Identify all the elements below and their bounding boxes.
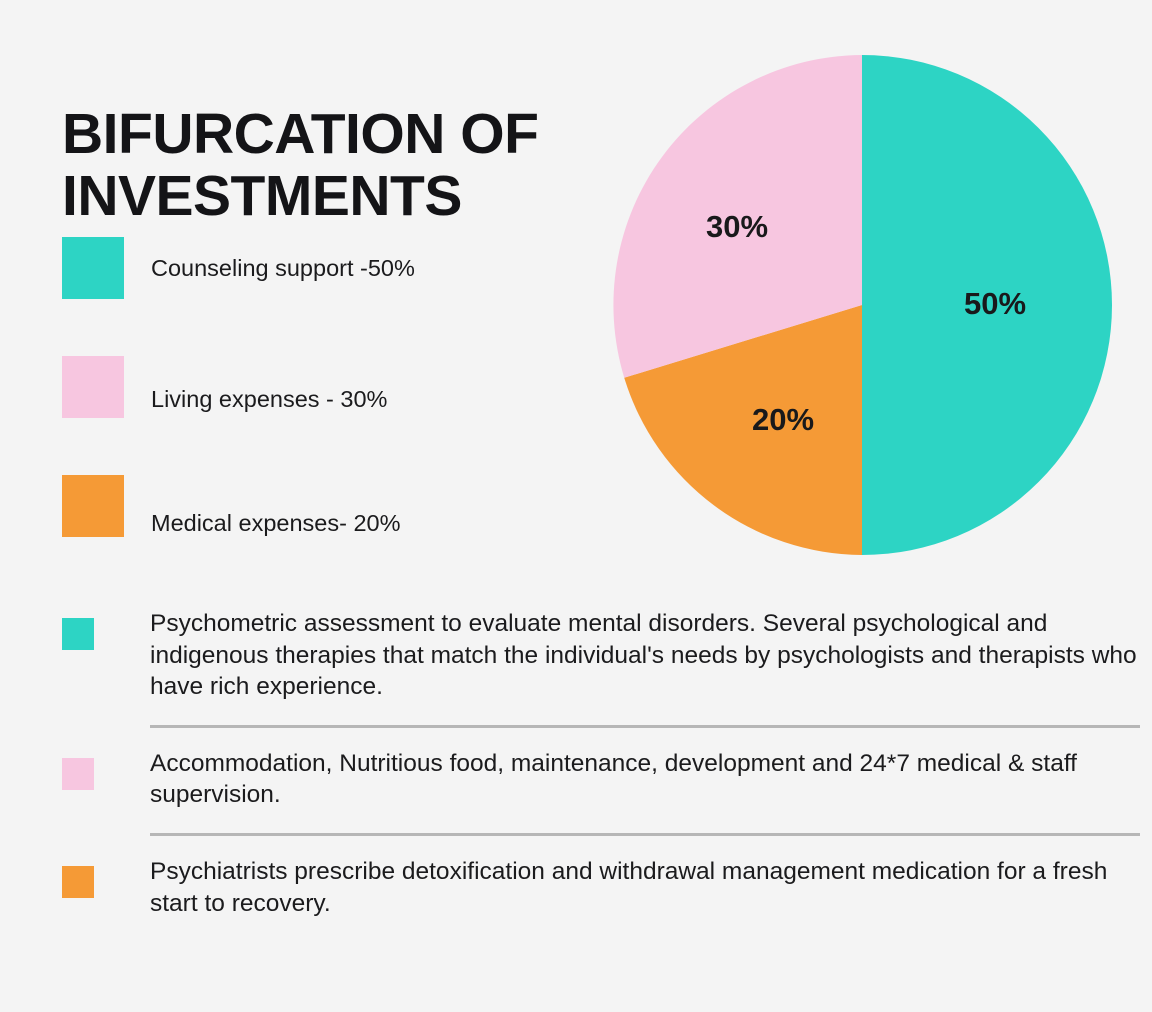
page-title: BIFURCATION OF INVESTMENTS xyxy=(62,104,662,227)
legend-item-medical-expenses[interactable]: Medical expenses- 20% xyxy=(62,475,602,537)
description-list: Psychometric assessment to evaluate ment… xyxy=(0,608,1152,919)
legend-swatch-pink-icon xyxy=(62,356,124,418)
pie-chart-svg xyxy=(612,55,1112,555)
description-divider-1 xyxy=(150,725,1140,728)
pie-value-label-medical-expenses: 20% xyxy=(752,402,814,438)
pie-chart: 50% 30% 20% xyxy=(612,55,1112,555)
legend-label-medical-expenses: Medical expenses- 20% xyxy=(151,475,401,537)
page-title-line-1: BIFURCATION OF xyxy=(62,104,662,166)
description-text-living-expenses: Accommodation, Nutritious food, maintena… xyxy=(150,748,1140,811)
legend-swatch-teal-icon xyxy=(62,237,124,299)
legend-item-living-expenses[interactable]: Living expenses - 30% xyxy=(62,356,602,418)
infographic-canvas: BIFURCATION OF INVESTMENTS Counseling su… xyxy=(0,0,1152,1012)
description-row-living-expenses: Accommodation, Nutritious food, maintena… xyxy=(0,748,1152,811)
page-title-line-2: INVESTMENTS xyxy=(62,166,662,228)
description-swatch-teal-icon xyxy=(62,618,94,650)
chart-legend: Counseling support -50% Living expenses … xyxy=(62,237,602,594)
legend-label-counseling-support: Counseling support -50% xyxy=(151,237,415,299)
legend-swatch-orange-icon xyxy=(62,475,124,537)
description-row-counseling-support: Psychometric assessment to evaluate ment… xyxy=(0,608,1152,703)
description-text-medical-expenses: Psychiatrists prescribe detoxification a… xyxy=(150,856,1140,919)
description-swatch-orange-icon xyxy=(62,866,94,898)
legend-item-counseling-support[interactable]: Counseling support -50% xyxy=(62,237,602,299)
description-divider-2 xyxy=(150,833,1140,836)
pie-value-label-counseling-support: 50% xyxy=(964,286,1026,322)
legend-label-living-expenses: Living expenses - 30% xyxy=(151,356,387,418)
description-row-medical-expenses: Psychiatrists prescribe detoxification a… xyxy=(0,856,1152,919)
pie-value-label-living-expenses: 30% xyxy=(706,209,768,245)
description-text-counseling-support: Psychometric assessment to evaluate ment… xyxy=(150,608,1140,703)
description-swatch-pink-icon xyxy=(62,758,94,790)
